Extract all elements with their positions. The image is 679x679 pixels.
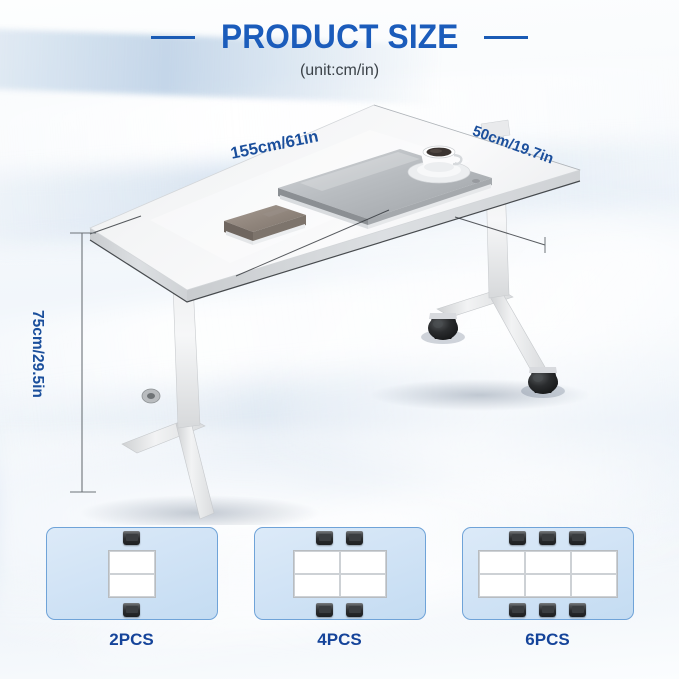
page-title: PRODUCT SIZE [221,18,459,57]
table-cell [571,574,617,597]
chair-icon [316,603,333,617]
chair-icon [539,603,556,617]
chair-icon [123,531,140,545]
chair-icon [346,603,363,617]
config-6pcs[interactable]: 6PCS [460,527,635,677]
table-cell [340,574,386,597]
chair-icon [509,603,526,617]
config-label-2pcs: 2PCS [109,630,153,650]
table-group-6 [478,550,618,598]
config-4pcs[interactable]: 4PCS [252,527,427,677]
table-group-4 [293,550,387,598]
header: PRODUCT SIZE (unit:cm/in) [0,18,679,80]
table-cell [525,551,571,574]
chair-row-bottom [509,603,586,617]
table-group-2 [108,550,156,598]
config-diagram-4pcs [254,527,426,620]
chair-row-bottom [123,603,140,617]
product-illustration [0,95,679,525]
chair-row-top [316,531,363,545]
chair-icon [509,531,526,545]
title-rule-left [151,36,195,39]
table-cell [479,551,525,574]
chair-row-top [509,531,586,545]
title-row: PRODUCT SIZE [0,18,679,57]
configuration-options: 2PCS [0,527,679,677]
config-label-4pcs: 4PCS [317,630,361,650]
table-cell [525,574,571,597]
chair-row-top [123,531,140,545]
chair-icon [569,531,586,545]
chair-icon [316,531,333,545]
chair-icon [539,531,556,545]
config-diagram-2pcs [46,527,218,620]
chair-row-bottom [316,603,363,617]
caster-wheel [421,313,465,344]
table-cell [294,551,340,574]
config-label-6pcs: 6PCS [525,630,569,650]
chair-icon [123,603,140,617]
table-cell [109,574,155,597]
product-size-infographic: PRODUCT SIZE (unit:cm/in) [0,0,679,679]
chair-icon [569,603,586,617]
table-cell [479,574,525,597]
dimension-label-height: 75cm/29.5in [28,310,46,398]
table-cell [340,551,386,574]
title-rule-right [484,36,528,39]
table-cell [571,551,617,574]
config-2pcs[interactable]: 2PCS [44,527,219,677]
page-subtitle: (unit:cm/in) [0,62,679,80]
table-cell [294,574,340,597]
table-cell [109,551,155,574]
chair-icon [346,531,363,545]
config-diagram-6pcs [462,527,634,620]
